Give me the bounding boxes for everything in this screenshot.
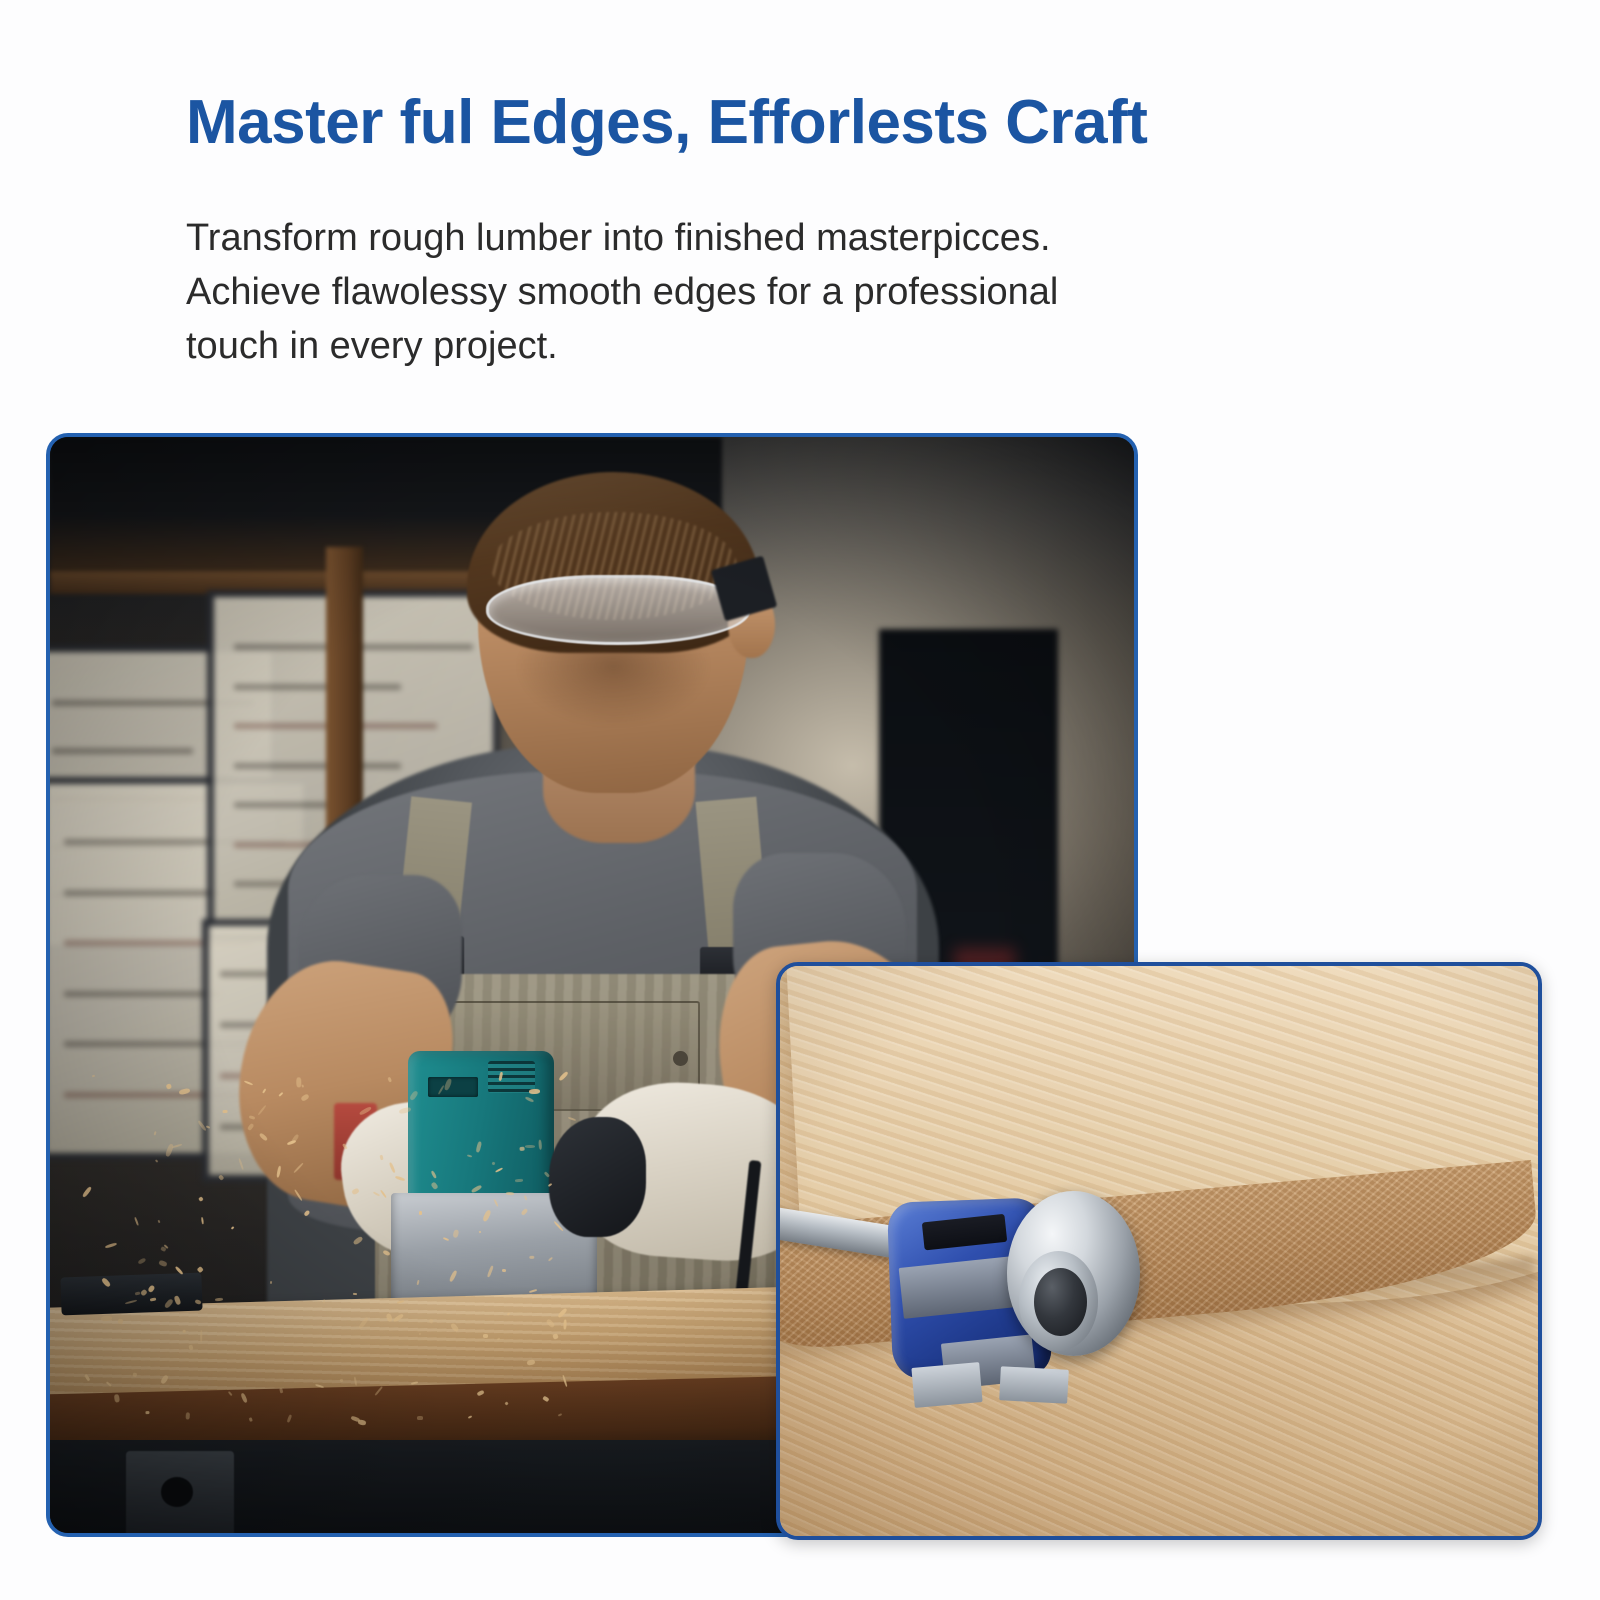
promo-banner: Master ful Edges, Efforlests Craft Trans… [0,0,1600,1600]
inset-vignette [780,966,1538,1536]
subheading-line-2: Achieve flawolessy smooth edges for a pr… [186,266,1166,320]
subheading-line-1: Transform rough lumber into finished mas… [186,212,1166,266]
subheading-line-3: touch in every project. [186,320,1166,374]
inset-photo [776,962,1542,1540]
subheading: Transform rough lumber into finished mas… [186,212,1166,374]
page-title: Master ful Edges, Efforlests Craft [186,88,1466,157]
